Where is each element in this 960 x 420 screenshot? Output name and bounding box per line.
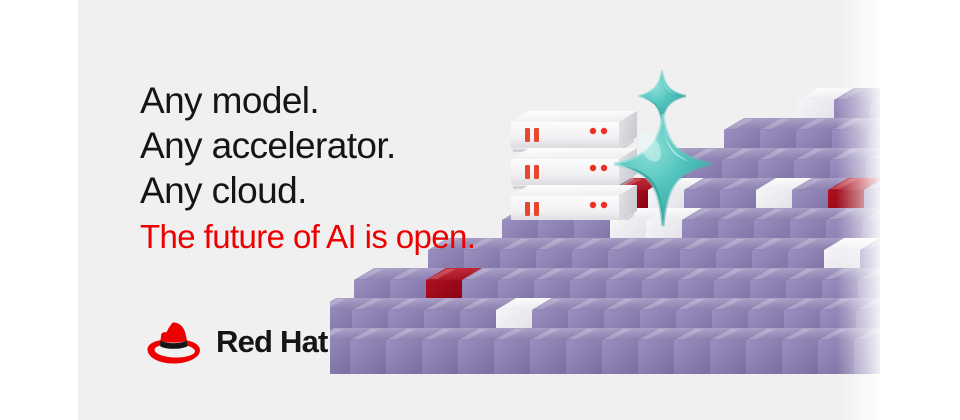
red-hat-logo: Red Hat — [140, 316, 328, 368]
headline-line-3: Any cloud. — [140, 168, 560, 213]
red-hat-ai-banner: Any model. Any accelerator. Any cloud. T… — [0, 0, 960, 420]
headline-line-1: Any model. — [140, 78, 560, 123]
ai-sparkle-stars — [588, 62, 738, 232]
fedora-hat-icon — [140, 316, 206, 368]
sparkle-large — [614, 114, 712, 226]
headline-line-2: Any accelerator. — [140, 123, 560, 168]
right-white-mask — [880, 0, 960, 420]
red-hat-wordmark: Red Hat — [216, 324, 328, 360]
headline-block: Any model. Any accelerator. Any cloud. T… — [140, 78, 560, 258]
headline-tagline: The future of AI is open. — [140, 213, 560, 258]
